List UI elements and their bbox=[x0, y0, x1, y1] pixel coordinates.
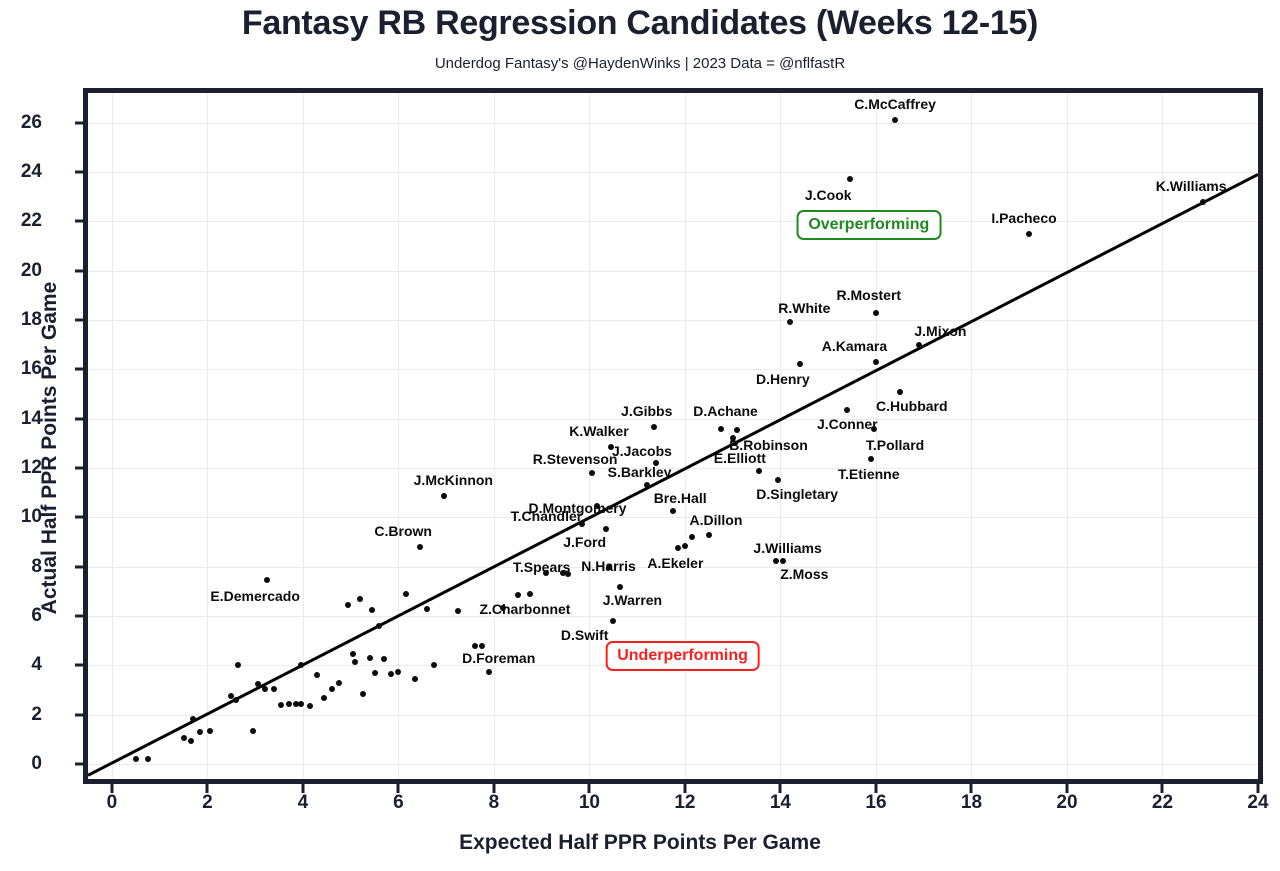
data-point-labeled bbox=[916, 342, 922, 348]
player-label: J.Jacobs bbox=[612, 443, 672, 459]
chart-title: Fantasy RB Regression Candidates (Weeks … bbox=[0, 4, 1280, 43]
data-point-labeled bbox=[417, 544, 423, 550]
data-point bbox=[424, 606, 430, 612]
gridline-horizontal bbox=[88, 221, 1258, 222]
x-tick-label: 22 bbox=[1132, 792, 1192, 814]
x-tick-mark bbox=[110, 784, 113, 793]
x-tick-mark bbox=[970, 784, 973, 793]
x-tick-mark bbox=[779, 784, 782, 793]
player-label: Z.Moss bbox=[780, 566, 828, 582]
data-point-labeled bbox=[1026, 231, 1032, 237]
data-point-labeled bbox=[644, 482, 650, 488]
x-tick-label: 20 bbox=[1037, 792, 1097, 814]
x-tick-label: 24 bbox=[1228, 792, 1280, 814]
data-point-labeled bbox=[756, 468, 762, 474]
x-tick-mark bbox=[1065, 784, 1068, 793]
data-point-labeled bbox=[718, 426, 724, 432]
data-point-labeled bbox=[264, 577, 270, 583]
x-tick-mark bbox=[397, 784, 400, 793]
data-point bbox=[412, 676, 418, 682]
player-label: D.Singletary bbox=[756, 486, 838, 502]
data-point-labeled bbox=[589, 470, 595, 476]
x-tick-mark bbox=[588, 784, 591, 793]
x-tick-label: 0 bbox=[82, 792, 142, 814]
player-label: N.Harris bbox=[581, 558, 635, 574]
y-tick-mark bbox=[75, 121, 83, 124]
y-tick-label: 16 bbox=[0, 358, 42, 380]
data-point bbox=[197, 729, 203, 735]
overperforming-annotation: Overperforming bbox=[796, 210, 941, 240]
gridline-vertical bbox=[685, 93, 686, 779]
data-point bbox=[367, 655, 373, 661]
y-tick-label: 14 bbox=[0, 408, 42, 430]
player-label: D.Swift bbox=[561, 627, 608, 643]
data-point bbox=[271, 686, 277, 692]
data-point-labeled bbox=[797, 361, 803, 367]
player-label: A.Kamara bbox=[822, 338, 887, 354]
data-point bbox=[689, 534, 695, 540]
gridline-horizontal bbox=[88, 123, 1258, 124]
data-point bbox=[181, 735, 187, 741]
data-point-labeled bbox=[479, 643, 485, 649]
data-point-labeled bbox=[873, 359, 879, 365]
data-point bbox=[250, 728, 256, 734]
data-point-labeled bbox=[651, 424, 657, 430]
data-point bbox=[286, 701, 292, 707]
data-point bbox=[188, 738, 194, 744]
gridline-horizontal bbox=[88, 369, 1258, 370]
data-point bbox=[372, 670, 378, 676]
gridline-vertical bbox=[1162, 93, 1163, 779]
data-point bbox=[336, 680, 342, 686]
data-point-labeled bbox=[670, 508, 676, 514]
data-point-labeled bbox=[610, 618, 616, 624]
player-label: J.Williams bbox=[753, 540, 821, 556]
y-tick-mark bbox=[75, 467, 83, 470]
gridline-vertical bbox=[494, 93, 495, 779]
gridline-horizontal bbox=[88, 419, 1258, 420]
player-label: J.Warren bbox=[603, 592, 662, 608]
x-tick-label: 14 bbox=[750, 792, 810, 814]
player-label: J.Ford bbox=[563, 534, 606, 550]
player-label: J.Mixon bbox=[914, 323, 966, 339]
player-label: R.Mostert bbox=[837, 287, 902, 303]
data-point-labeled bbox=[515, 592, 521, 598]
x-tick-label: 18 bbox=[941, 792, 1001, 814]
underperforming-annotation: Underperforming bbox=[605, 641, 760, 671]
data-point bbox=[388, 671, 394, 677]
data-point bbox=[403, 591, 409, 597]
x-tick-mark bbox=[206, 784, 209, 793]
data-point bbox=[352, 659, 358, 665]
data-point bbox=[307, 703, 313, 709]
data-point-labeled bbox=[868, 456, 874, 462]
player-label: I.Pacheco bbox=[991, 210, 1056, 226]
data-point bbox=[431, 662, 437, 668]
data-point bbox=[376, 623, 382, 629]
y-tick-label: 20 bbox=[0, 260, 42, 282]
data-point bbox=[395, 669, 401, 675]
x-tick-label: 8 bbox=[464, 792, 524, 814]
gridline-vertical bbox=[207, 93, 208, 779]
y-tick-label: 8 bbox=[0, 556, 42, 578]
player-label: E.Elliott bbox=[714, 450, 766, 466]
trend-line bbox=[88, 93, 1258, 779]
data-point bbox=[145, 756, 151, 762]
gridline-vertical bbox=[398, 93, 399, 779]
y-tick-label: 18 bbox=[0, 309, 42, 331]
data-point-labeled bbox=[844, 407, 850, 413]
data-point-labeled bbox=[897, 389, 903, 395]
x-tick-mark bbox=[1257, 784, 1260, 793]
x-axis-title: Expected Half PPR Points Per Game bbox=[0, 831, 1280, 855]
data-point-labeled bbox=[773, 558, 779, 564]
y-tick-mark bbox=[75, 763, 83, 766]
data-point bbox=[233, 697, 239, 703]
y-tick-label: 2 bbox=[0, 704, 42, 726]
data-point bbox=[298, 701, 304, 707]
y-tick-label: 24 bbox=[0, 161, 42, 183]
x-tick-label: 12 bbox=[655, 792, 715, 814]
x-tick-mark bbox=[874, 784, 877, 793]
player-label: J.Conner bbox=[817, 416, 878, 432]
gridline-horizontal bbox=[88, 468, 1258, 469]
data-point-labeled bbox=[617, 584, 623, 590]
data-point bbox=[321, 695, 327, 701]
data-point-labeled bbox=[847, 176, 853, 182]
y-tick-label: 4 bbox=[0, 654, 42, 676]
data-point-labeled bbox=[787, 319, 793, 325]
y-tick-label: 6 bbox=[0, 605, 42, 627]
data-point-labeled bbox=[603, 526, 609, 532]
y-tick-mark bbox=[75, 368, 83, 371]
y-tick-label: 26 bbox=[0, 112, 42, 134]
data-point-labeled bbox=[706, 532, 712, 538]
gridline-horizontal bbox=[88, 764, 1258, 765]
y-tick-mark bbox=[75, 664, 83, 667]
player-label: K.Walker bbox=[569, 423, 628, 439]
gridline-horizontal bbox=[88, 616, 1258, 617]
player-label: T.Etienne bbox=[838, 466, 899, 482]
y-tick-mark bbox=[75, 565, 83, 568]
scatter-chart: Fantasy RB Regression Candidates (Weeks … bbox=[0, 0, 1280, 871]
player-label: C.Brown bbox=[374, 523, 432, 539]
player-label: S.Barkley bbox=[608, 464, 672, 480]
player-label: C.McCaffrey bbox=[854, 96, 936, 112]
data-point bbox=[278, 702, 284, 708]
player-label: J.Cook bbox=[805, 187, 852, 203]
data-point-labeled bbox=[734, 427, 740, 433]
data-point-labeled bbox=[441, 493, 447, 499]
data-point-labeled bbox=[675, 545, 681, 551]
data-point bbox=[682, 543, 688, 549]
y-tick-mark bbox=[75, 170, 83, 173]
player-label: C.Hubbard bbox=[876, 398, 948, 414]
y-tick-mark bbox=[75, 319, 83, 322]
gridline-horizontal bbox=[88, 715, 1258, 716]
y-tick-mark bbox=[75, 269, 83, 272]
player-label: R.Stevenson bbox=[533, 451, 618, 467]
x-tick-label: 10 bbox=[559, 792, 619, 814]
x-tick-mark bbox=[301, 784, 304, 793]
data-point bbox=[314, 672, 320, 678]
chart-subtitle: Underdog Fantasy's @HaydenWinks | 2023 D… bbox=[0, 55, 1280, 72]
y-tick-mark bbox=[75, 615, 83, 618]
x-tick-mark bbox=[1161, 784, 1164, 793]
data-point bbox=[345, 602, 351, 608]
player-label: Z.Charbonnet bbox=[479, 601, 570, 617]
player-label: D.Achane bbox=[693, 403, 758, 419]
player-label: T.Chandler bbox=[511, 508, 583, 524]
x-tick-mark bbox=[683, 784, 686, 793]
x-tick-label: 6 bbox=[368, 792, 428, 814]
player-label: J.McKinnon bbox=[414, 472, 493, 488]
y-tick-mark bbox=[75, 417, 83, 420]
player-label: E.Demercado bbox=[210, 588, 299, 604]
data-point bbox=[360, 691, 366, 697]
player-label: T.Spears bbox=[513, 559, 571, 575]
x-tick-label: 2 bbox=[177, 792, 237, 814]
data-point bbox=[486, 669, 492, 675]
data-point bbox=[472, 643, 478, 649]
data-point bbox=[527, 591, 533, 597]
data-point bbox=[190, 716, 196, 722]
plot-area: C.McCaffreyJ.CookK.WilliamsI.PachecoR.Mo… bbox=[83, 88, 1263, 784]
y-tick-mark bbox=[75, 516, 83, 519]
gridline-vertical bbox=[303, 93, 304, 779]
player-label: D.Henry bbox=[756, 371, 810, 387]
y-axis-title: Actual Half PPR Points Per Game bbox=[38, 98, 62, 798]
gridline-horizontal bbox=[88, 172, 1258, 173]
player-label: R.White bbox=[778, 300, 830, 316]
player-label: A.Dillon bbox=[690, 512, 743, 528]
data-point bbox=[350, 651, 356, 657]
player-label: D.Foreman bbox=[462, 650, 535, 666]
data-point bbox=[235, 662, 241, 668]
gridline-horizontal bbox=[88, 517, 1258, 518]
gridline-vertical bbox=[1067, 93, 1068, 779]
data-point bbox=[262, 686, 268, 692]
y-tick-label: 0 bbox=[0, 753, 42, 775]
gridline-horizontal bbox=[88, 271, 1258, 272]
data-point bbox=[255, 681, 261, 687]
y-tick-mark bbox=[75, 220, 83, 223]
data-point bbox=[381, 656, 387, 662]
data-point-labeled bbox=[873, 310, 879, 316]
data-point bbox=[369, 607, 375, 613]
gridline-horizontal bbox=[88, 320, 1258, 321]
player-label: Bre.Hall bbox=[654, 490, 707, 506]
data-point bbox=[455, 608, 461, 614]
data-point bbox=[133, 756, 139, 762]
y-tick-label: 12 bbox=[0, 457, 42, 479]
y-tick-label: 10 bbox=[0, 506, 42, 528]
y-tick-mark bbox=[75, 713, 83, 716]
data-point-labeled bbox=[1200, 199, 1206, 205]
y-tick-label: 22 bbox=[0, 210, 42, 232]
player-label: J.Gibbs bbox=[621, 403, 672, 419]
gridline-vertical bbox=[971, 93, 972, 779]
data-point-labeled bbox=[780, 558, 786, 564]
player-label: T.Pollard bbox=[866, 437, 924, 453]
data-point bbox=[207, 728, 213, 734]
x-tick-label: 4 bbox=[273, 792, 333, 814]
x-tick-label: 16 bbox=[846, 792, 906, 814]
player-label: K.Williams bbox=[1156, 178, 1227, 194]
gridline-vertical bbox=[112, 93, 113, 779]
data-point bbox=[357, 596, 363, 602]
x-tick-mark bbox=[492, 784, 495, 793]
data-point bbox=[329, 686, 335, 692]
player-label: A.Ekeler bbox=[647, 555, 703, 571]
plot-inner: C.McCaffreyJ.CookK.WilliamsI.PachecoR.Mo… bbox=[88, 93, 1258, 779]
